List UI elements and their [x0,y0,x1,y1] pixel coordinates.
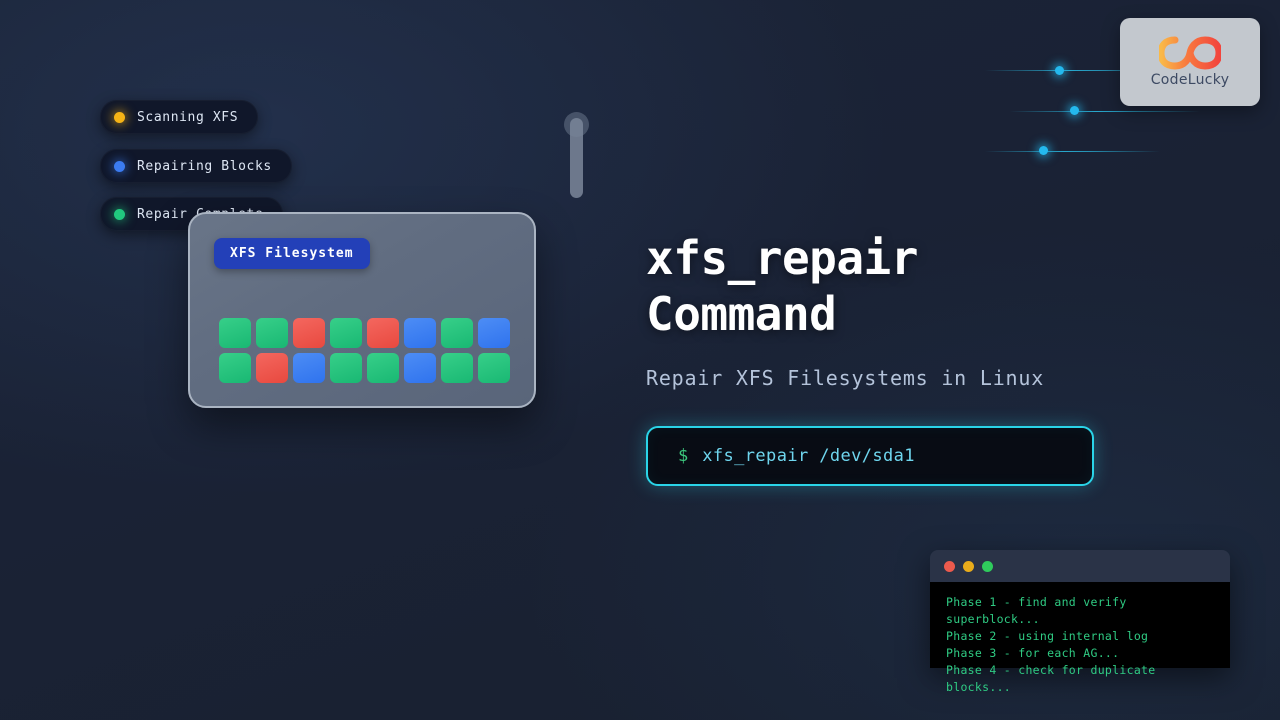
filesystem-block [256,318,288,348]
filesystem-block [330,353,362,383]
close-dot-icon[interactable] [944,561,955,572]
filesystem-block [293,353,325,383]
status-pill-label: Repairing Blocks [137,159,272,174]
network-line [985,151,1160,152]
filesystem-block [404,353,436,383]
filesystem-block [478,318,510,348]
status-dot-green [114,209,125,220]
command-box[interactable]: $ xfs_repair /dev/sda1 [646,426,1094,486]
terminal-output: Phase 1 - find and verify superblock...P… [946,594,1196,696]
filesystem-block [441,353,473,383]
brand-logo-card[interactable]: CodeLucky [1120,18,1260,106]
brand-name: CodeLucky [1151,72,1230,88]
filesystem-block [478,353,510,383]
filesystem-block [256,353,288,383]
status-pill-repairing[interactable]: Repairing Blocks [100,149,292,183]
filesystem-block [219,318,251,348]
status-dot-blue [114,161,125,172]
terminal-line: Phase 1 - find and verify superblock... [946,594,1196,628]
network-node-icon [1070,106,1079,115]
filesystem-block [404,318,436,348]
filesystem-badge: XFS Filesystem [214,238,370,269]
status-dot-amber [114,112,125,123]
maximize-dot-icon[interactable] [982,561,993,572]
terminal-line: Phase 3 - for each AG... [946,645,1196,662]
terminal-window: Phase 1 - find and verify superblock...P… [930,550,1230,668]
terminal-line: Phase 4 - check for duplicate blocks... [946,662,1196,696]
shell-prompt-icon: $ [678,446,688,466]
filesystem-block [330,318,362,348]
hero-section: xfs_repair Command Repair XFS Filesystem… [646,230,1186,390]
filesystem-block [293,318,325,348]
network-node-icon [1055,66,1064,75]
network-node-icon [1039,146,1048,155]
filesystem-block [367,353,399,383]
page-subtitle: Repair XFS Filesystems in Linux [646,366,1186,390]
command-text: xfs_repair /dev/sda1 [702,446,915,466]
terminal-body: Phase 1 - find and verify superblock...P… [930,582,1230,668]
page-title: xfs_repair Command [646,230,1186,342]
filesystem-block [441,318,473,348]
terminal-line: Phase 2 - using internal log [946,628,1196,645]
vertical-scroll-handle[interactable] [570,118,583,198]
filesystem-block [367,318,399,348]
network-line [1010,111,1200,112]
infinity-loop-icon [1159,36,1221,70]
terminal-titlebar [930,550,1230,582]
status-pill-scanning[interactable]: Scanning XFS [100,100,258,134]
minimize-dot-icon[interactable] [963,561,974,572]
filesystem-block [219,353,251,383]
status-pill-label: Scanning XFS [137,110,238,125]
filesystem-block-grid [219,318,510,383]
